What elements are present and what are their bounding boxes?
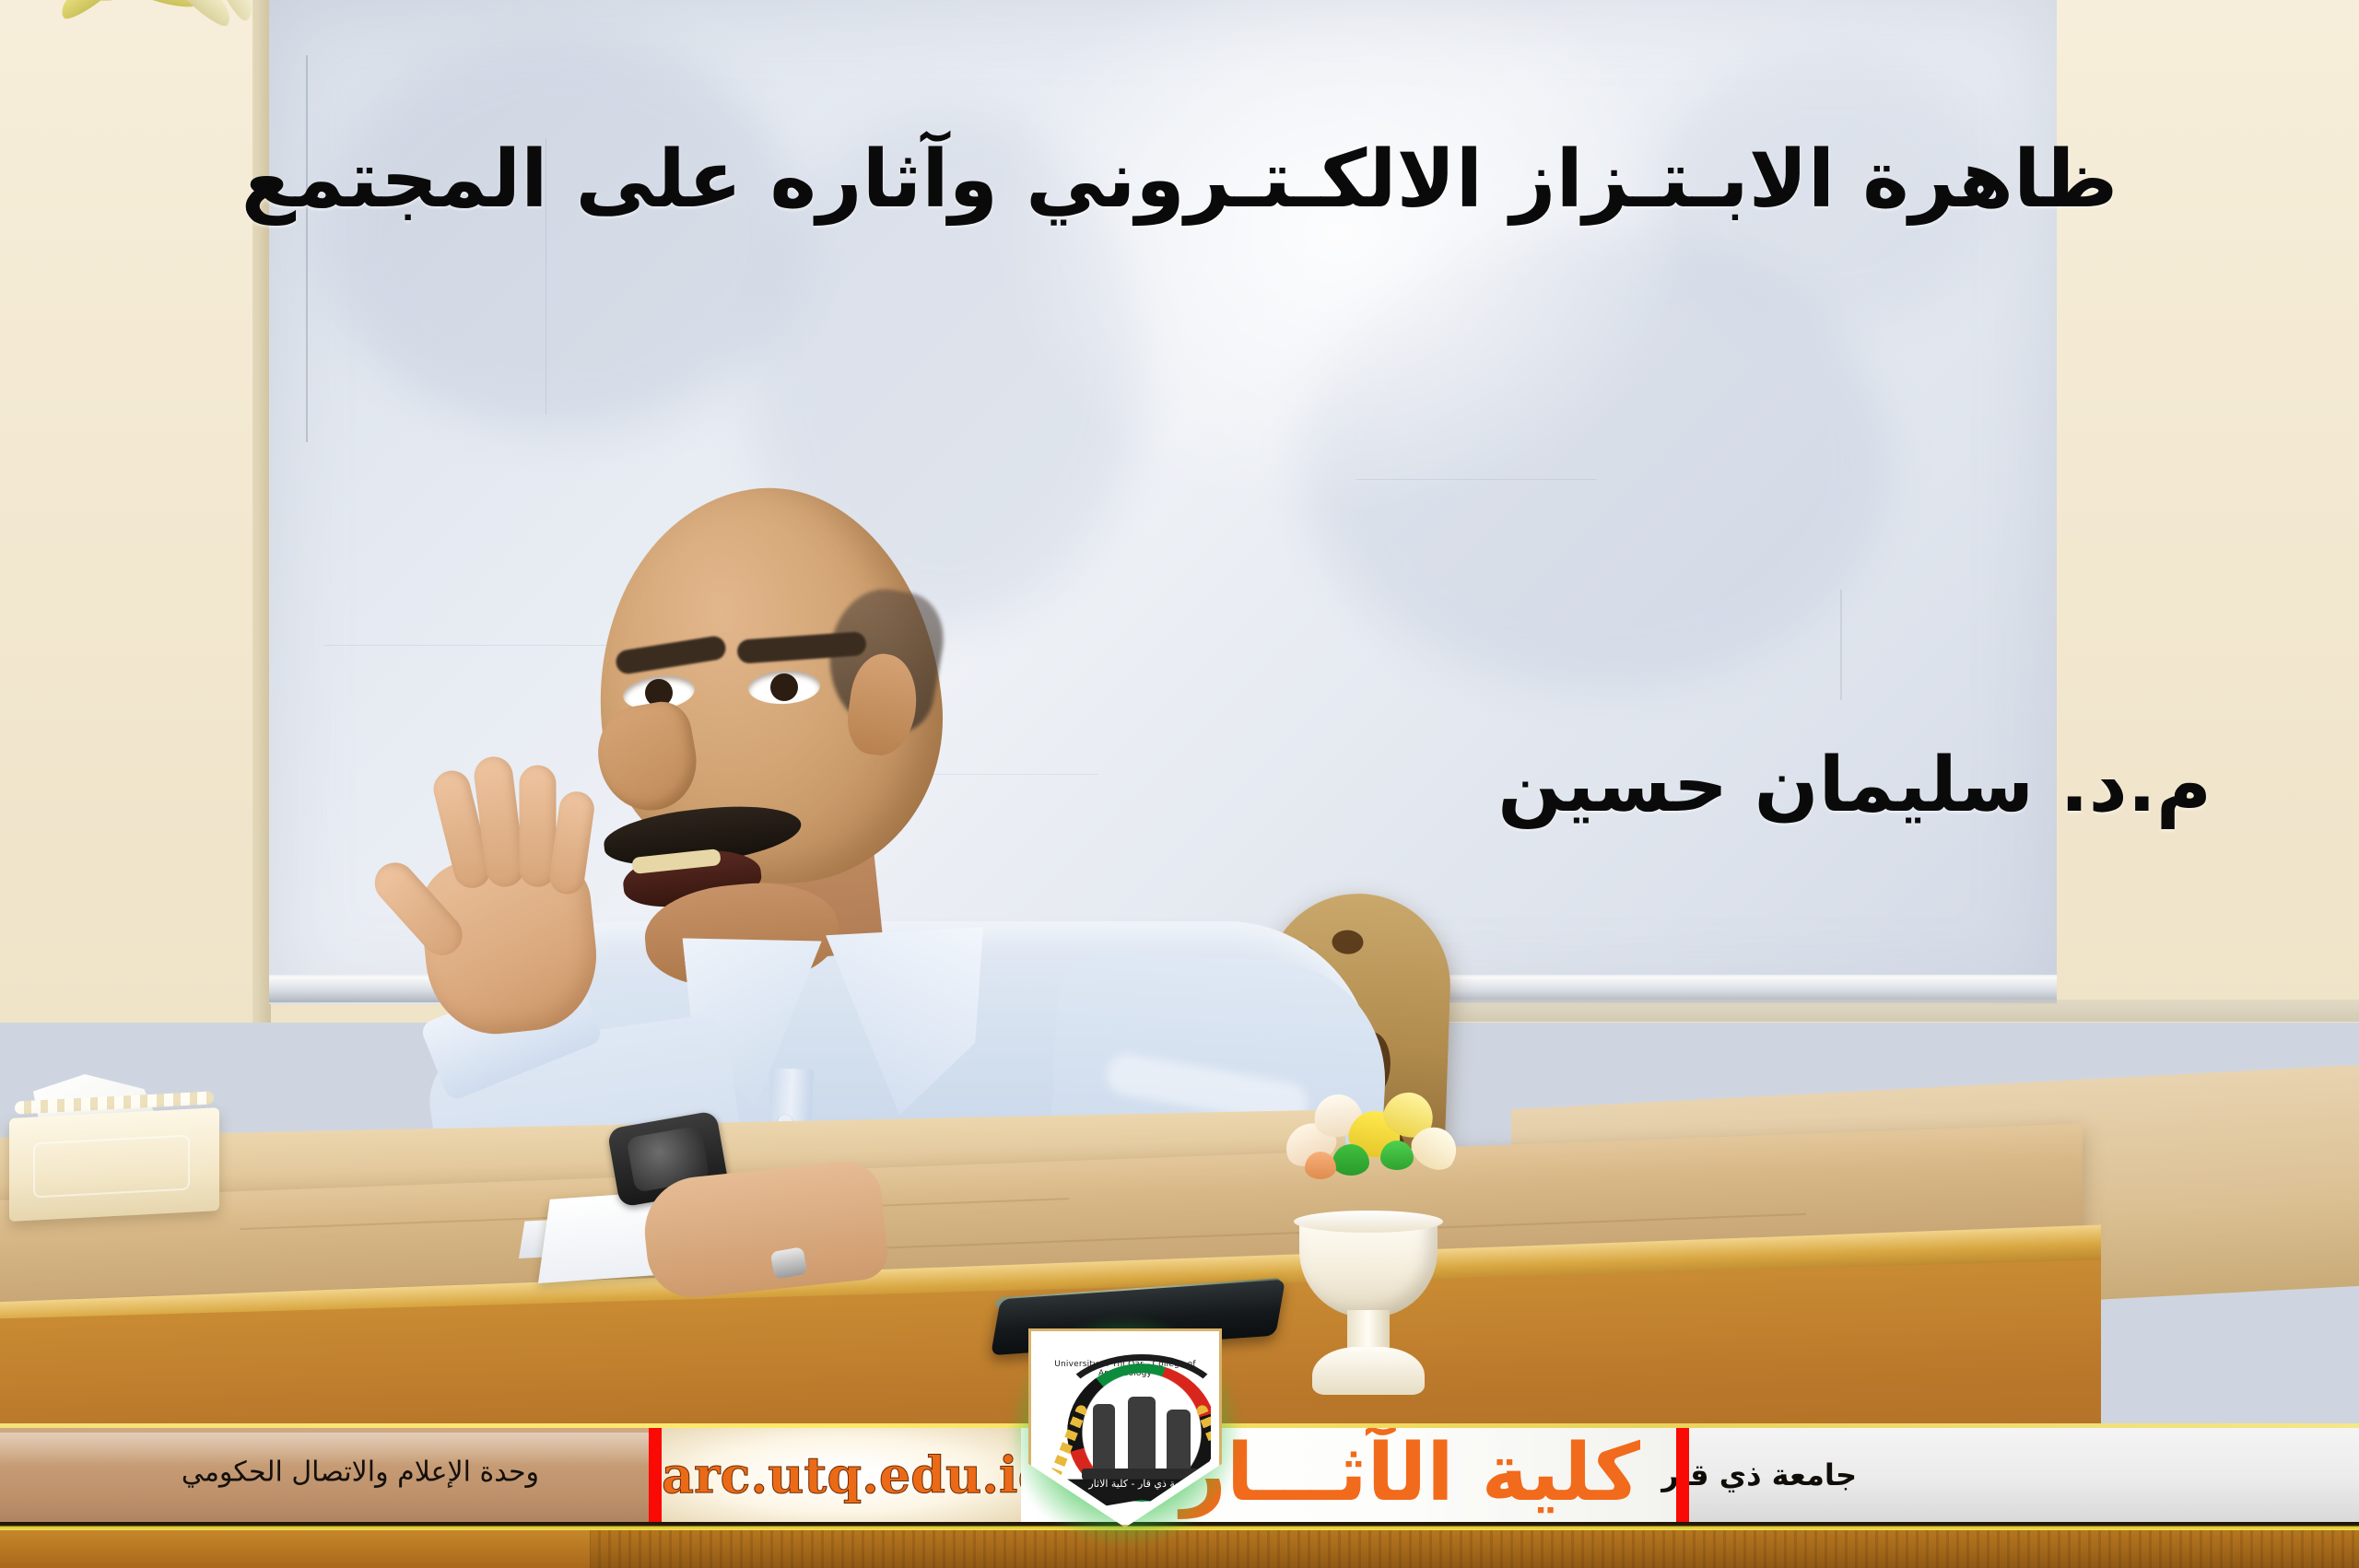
tissue-box: [9, 1078, 221, 1216]
flowers: [1281, 1087, 1465, 1225]
banner-divider-right: [1676, 1428, 1689, 1522]
raised-hand: [378, 743, 645, 1044]
wall-ledge: [1438, 1000, 2359, 1022]
finger-ring: [770, 1246, 808, 1280]
banner-university-segment: جامعة ذي قار: [1689, 1428, 2359, 1522]
poster-headline: ظاهرة الابـتـزاز الالكـتـروني وآثاره على…: [0, 138, 2359, 221]
university-emblem-icon: University of Thi Qar - College of Archa…: [1023, 1325, 1227, 1533]
desk-wood-bottom-left: [0, 1527, 590, 1568]
media-unit-label: وحدة الإعلام والاتصال الحكومي: [182, 1457, 539, 1489]
college-name: كلية الآثـــار: [1180, 1427, 1640, 1519]
website-url[interactable]: arc.utq.edu.iq: [662, 1445, 1021, 1504]
banner-website-segment[interactable]: arc.utq.edu.iq: [662, 1428, 1021, 1522]
banner-divider-left: [649, 1428, 662, 1522]
university-name: جامعة ذي قار: [1661, 1457, 1857, 1492]
speaker-name: م.د. سليمان حسين: [1497, 742, 2212, 829]
banner-media-unit-segment: وحدة الإعلام والاتصال الحكومي: [0, 1428, 650, 1522]
emblem-relief-figures: [1091, 1395, 1192, 1474]
flower-vase: [1290, 1207, 1447, 1400]
poster-root: ظاهرة الابـتـزاز الالكـتـروني وآثاره على…: [0, 0, 2359, 1568]
